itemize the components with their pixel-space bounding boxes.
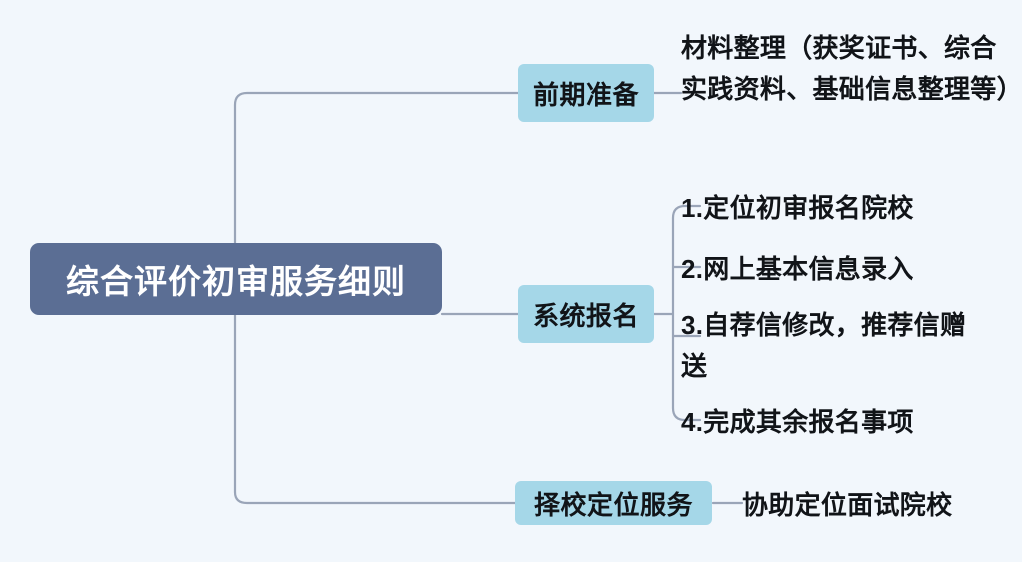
root-node[interactable]: 综合评价初审服务细则 bbox=[30, 243, 442, 315]
leaf-preparation-materials: 材料整理（获奖证书、综合实践资料、基础信息整理等） bbox=[681, 28, 1011, 110]
leaf-signup-item-2: 2.网上基本信息录入 bbox=[681, 249, 1011, 290]
mindmap-canvas: 综合评价初审服务细则 前期准备 系统报名 择校定位服务 材料整理（获奖证书、综合… bbox=[0, 0, 1022, 562]
branch-node-preparation[interactable]: 前期准备 bbox=[518, 64, 654, 122]
leaf-school-selection-support: 协助定位面试院校 bbox=[742, 485, 1022, 526]
leaf-signup-item-1: 1.定位初审报名院校 bbox=[681, 188, 1011, 229]
leaf-signup-item-3: 3.自荐信修改，推荐信赠送 bbox=[681, 305, 981, 387]
branch-node-system-signup[interactable]: 系统报名 bbox=[518, 285, 654, 343]
connector-root-to-school bbox=[235, 492, 515, 503]
leaf-signup-item-4: 4.完成其余报名事项 bbox=[681, 402, 1011, 443]
branch-node-school-selection[interactable]: 择校定位服务 bbox=[515, 481, 712, 525]
connector-root-to-prep bbox=[235, 93, 518, 105]
